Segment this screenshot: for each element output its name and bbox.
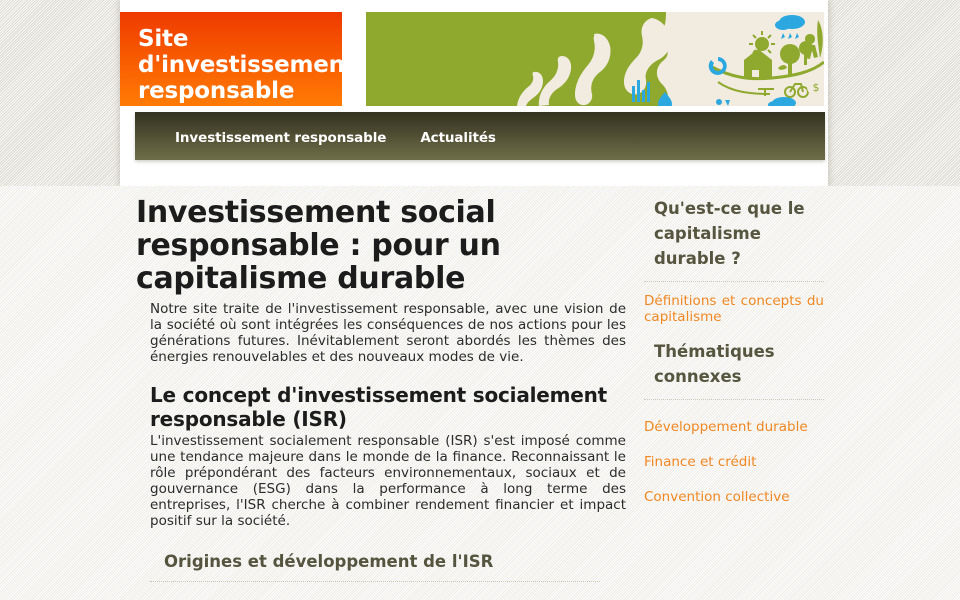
section-paragraph-isr: L'investissement socialement responsable… [150, 433, 626, 529]
sidebar-link-definitions-concepts-capitalisme[interactable]: Définitions et concepts du capitalisme [644, 293, 824, 325]
section-heading-isr: Le concept d'investissement socialement … [150, 383, 626, 431]
intro-paragraph: Notre site traite de l'investissement re… [150, 301, 626, 365]
sidebar-divider-1 [644, 281, 824, 282]
nav-link-investissement-responsable[interactable]: Investissement responsable [175, 130, 386, 146]
site-logo[interactable]: Site d'investissement responsable [120, 12, 342, 106]
nav-item-investissement-responsable[interactable]: Investissement responsable [175, 127, 386, 146]
subsection-divider [150, 581, 600, 582]
main-column: Investissement social responsable : pour… [136, 196, 626, 582]
svg-text:$: $ [813, 81, 820, 94]
nav-item-actualites[interactable]: Actualités [420, 127, 496, 146]
nav-list: Investissement responsable Actualités [135, 112, 825, 160]
sidebar-link-finance-credit[interactable]: Finance et crédit [644, 454, 824, 470]
sidebar-heading-thematiques-connexes: Thématiques connexes [644, 339, 824, 389]
content-area: Investissement social responsable : pour… [0, 186, 960, 600]
nav-link-actualites[interactable]: Actualités [420, 130, 496, 146]
main-navigation: Investissement responsable Actualités [135, 112, 825, 160]
eco-world-illustration-icon: $ [366, 12, 824, 106]
sidebar-divider-2 [644, 399, 824, 400]
subsection-heading-origines: Origines et développement de l'ISR [164, 551, 626, 573]
sidebar-link-convention-collective[interactable]: Convention collective [644, 489, 824, 505]
sidebar: Qu'est-ce que le capitalisme durable ? D… [644, 196, 824, 505]
page-root: Site d'investissement responsable [0, 0, 960, 600]
page-title: Investissement social responsable : pour… [136, 196, 626, 295]
sidebar-heading-capitalisme-durable: Qu'est-ce que le capitalisme durable ? [644, 196, 824, 271]
sidebar-section-thematiques: Thématiques connexes Développement durab… [644, 339, 824, 505]
site-logo-text: Site d'investissement responsable [138, 26, 342, 104]
sidebar-link-developpement-durable[interactable]: Développement durable [644, 419, 824, 435]
header-banner: $ [366, 12, 824, 106]
